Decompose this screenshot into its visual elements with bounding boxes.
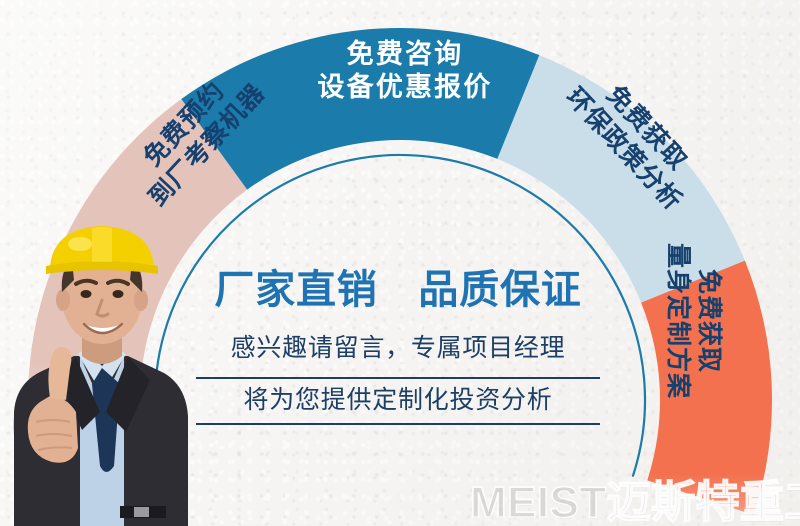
arc-chart [0,0,800,526]
headline: 厂家直销 品质保证 [196,268,600,313]
subtitle-line-1: 感兴趣请留言，专属项目经理 [196,327,600,371]
arc-segment-free-consult[interactable] [181,28,539,190]
promo-banner: 免费预约 到厂考察机器 免费咨询 设备优惠报价 免费获取 环保政策分析 免费获取… [0,0,800,526]
subtitle-line-2: 将为您提供定制化投资分析 [196,377,600,425]
center-copy: 厂家直销 品质保证 感兴趣请留言，专属项目经理 将为您提供定制化投资分析 [196,268,600,425]
arc-segment-free-policy[interactable] [497,55,745,303]
arc-svg [0,0,800,526]
arc-segment-free-custom-plan[interactable] [641,261,772,515]
